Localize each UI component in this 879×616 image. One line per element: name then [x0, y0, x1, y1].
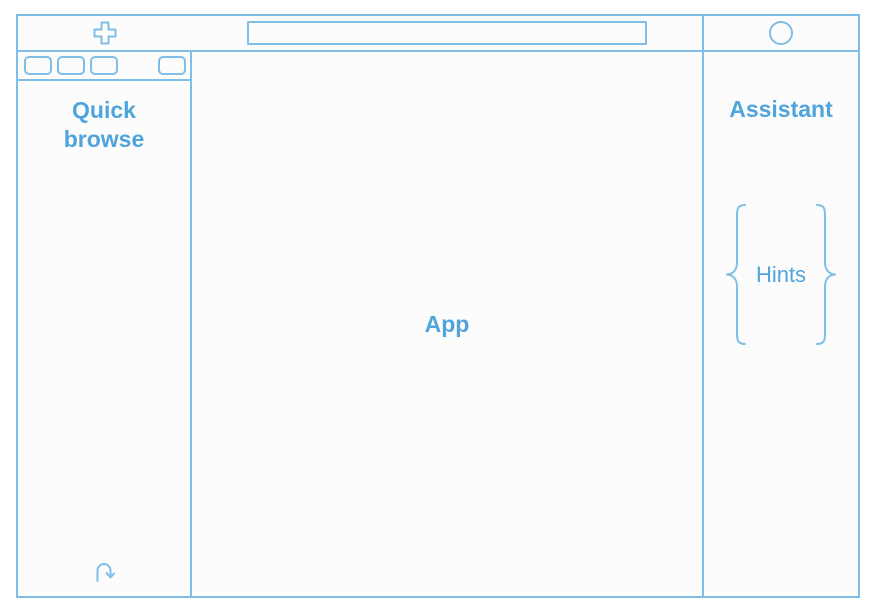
- top-bar-center-section: [192, 16, 702, 50]
- right-curly-brace-icon: [812, 202, 838, 347]
- circle-avatar-icon[interactable]: [768, 20, 794, 46]
- quick-browse-sidebar: Quick browse: [18, 52, 192, 596]
- app-label: App: [425, 311, 470, 338]
- assistant-title: Assistant: [729, 96, 833, 123]
- app-content-panel[interactable]: App: [192, 52, 702, 596]
- hints-label: Hints: [750, 262, 812, 288]
- sidebar-footer: [18, 558, 190, 586]
- assistant-panel: Assistant Hints: [702, 52, 858, 596]
- left-curly-brace-icon: [724, 202, 750, 347]
- quick-browse-title: Quick browse: [34, 96, 174, 155]
- search-input[interactable]: [247, 21, 647, 45]
- top-bar-right-section: [702, 16, 858, 50]
- plus-icon[interactable]: [92, 20, 118, 46]
- top-bar-left-section: [18, 16, 192, 50]
- wireframe-window: Quick browse App Assistant: [16, 14, 860, 598]
- window-body: Quick browse App Assistant: [18, 52, 858, 596]
- u-turn-arrow-icon[interactable]: [90, 558, 118, 586]
- hints-block: Hints: [704, 202, 858, 347]
- top-bar: [18, 16, 858, 52]
